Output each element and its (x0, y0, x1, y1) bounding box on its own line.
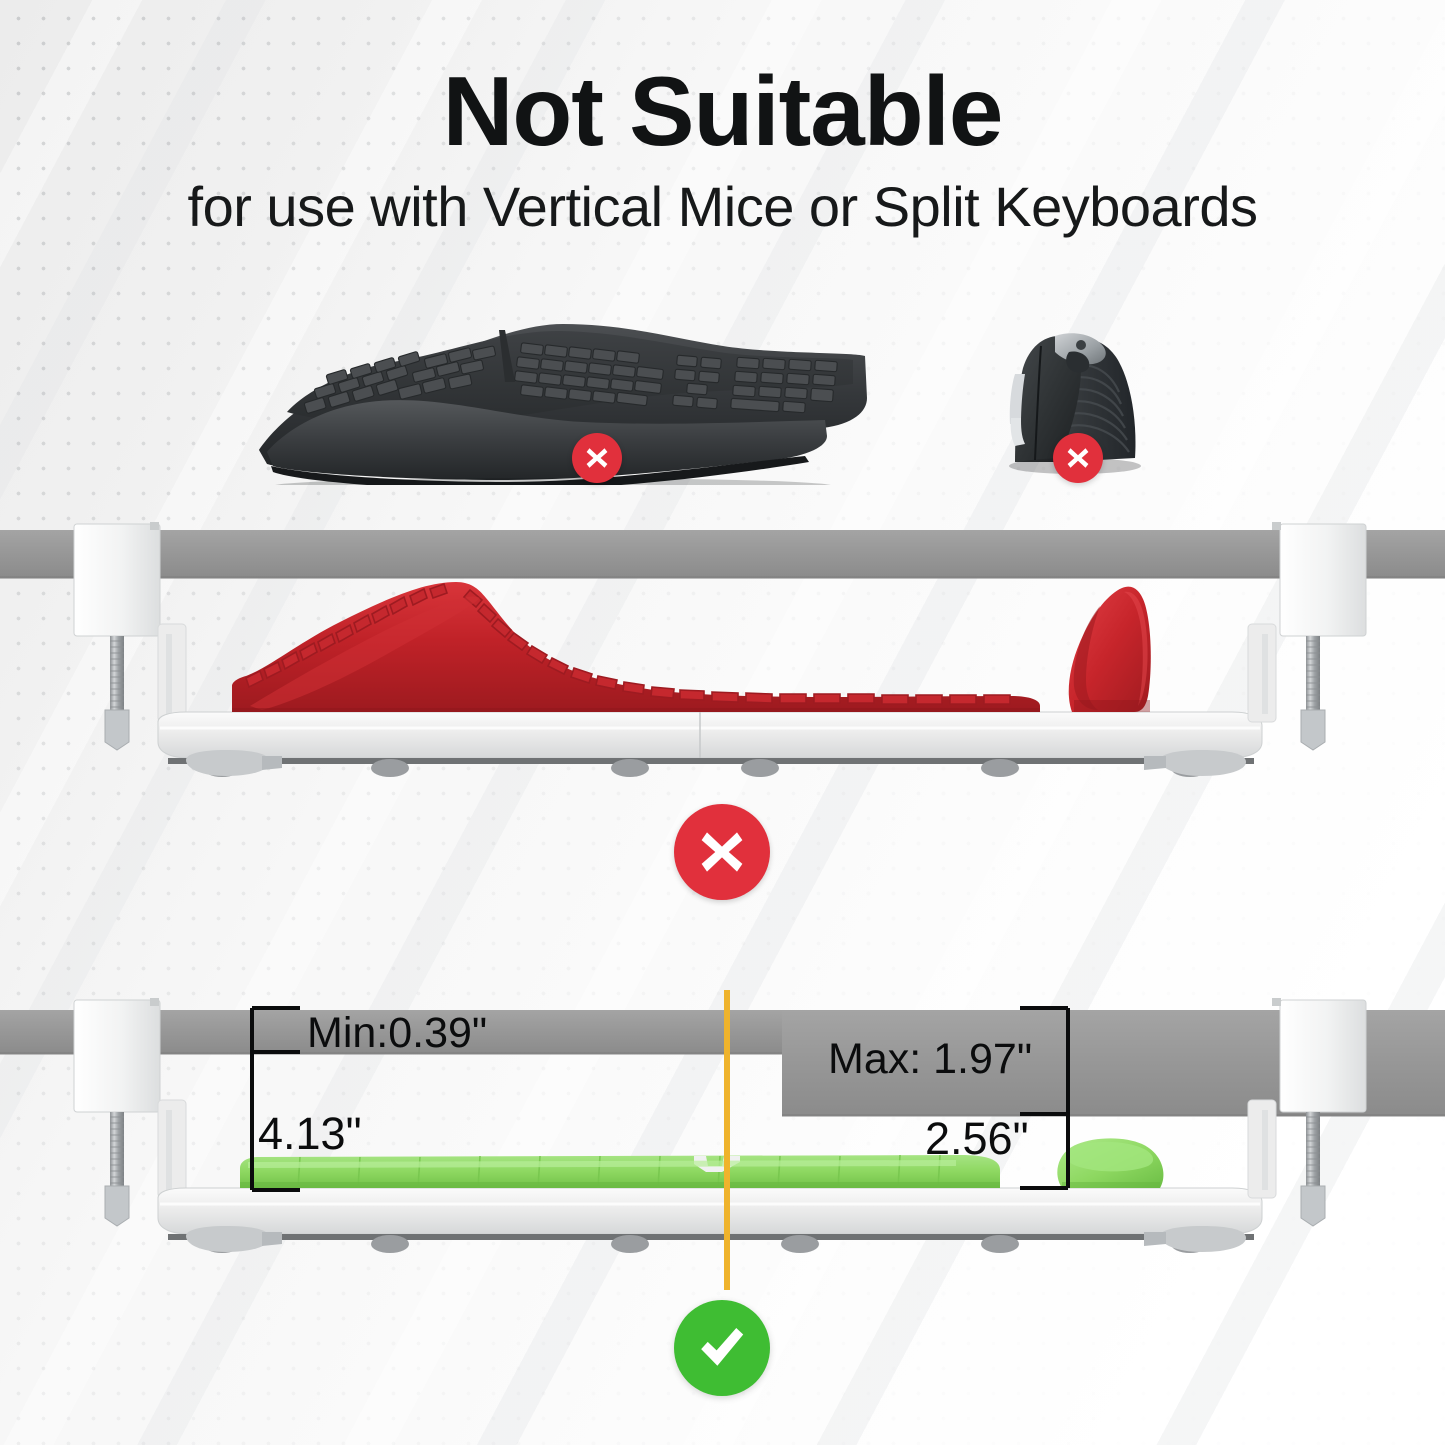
red-split-keyboard-silhouette (232, 582, 1040, 712)
clearance-left-label: 4.13" (258, 1108, 362, 1160)
keyboard-reject-badge (572, 433, 622, 483)
page-subtitle: for use with Vertical Mice or Split Keyb… (0, 176, 1445, 238)
desk-max-label: Max: 1.97" (828, 1035, 1032, 1084)
x-mark-icon (1065, 445, 1091, 471)
desk-min-label: Min:0.39" (307, 1009, 487, 1058)
x-mark-icon (584, 445, 610, 471)
clearance-right-label: 2.56" (925, 1113, 1029, 1165)
red-vertical-mouse-silhouette (1069, 587, 1151, 712)
page-title: Not Suitable (0, 62, 1445, 160)
scene-incompatible (0, 510, 1445, 800)
x-mark-icon (697, 827, 747, 877)
scene-reject-badge (674, 804, 770, 900)
keyboard-tray-compatible (158, 1188, 1262, 1253)
mouse-reject-badge (1053, 433, 1103, 483)
split-keyboard-photo (253, 300, 873, 485)
infographic-canvas: Not Suitable for use with Vertical Mice … (0, 0, 1445, 1445)
scene-compatible (0, 990, 1445, 1290)
check-mark-icon (695, 1321, 749, 1375)
green-flat-mouse-silhouette (1057, 1138, 1163, 1188)
keyboard-tray-incompatible (158, 712, 1262, 777)
scene-accept-badge (674, 1300, 770, 1396)
